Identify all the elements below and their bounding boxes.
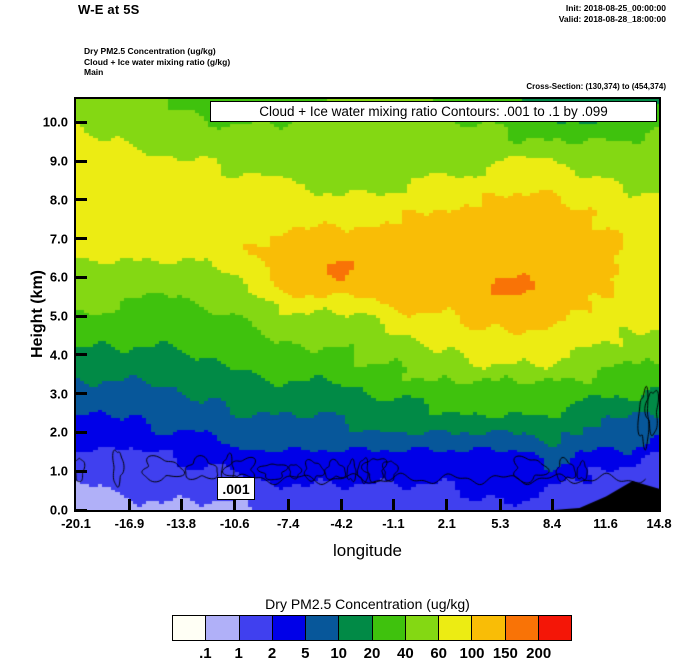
x-tick-mark [340,499,343,510]
y-axis-title: Height (km) [29,234,47,394]
y-tick-label: 1.0 [8,464,68,479]
colorbar-swatch-7 [406,616,439,640]
colorbar [172,615,572,641]
y-tick-mark [76,121,87,124]
x-tick-mark [180,499,183,510]
cross-section-plot: Cloud + Ice water mixing ratio Contours:… [74,97,661,512]
x-tick-mark [128,499,131,510]
contour-banner: Cloud + Ice water mixing ratio Contours:… [210,101,657,122]
y-tick-mark [76,198,87,201]
y-tick-mark [76,353,87,356]
colorbar-swatch-5 [339,616,372,640]
y-tick-mark [76,315,87,318]
contour-value-label: .001 [217,477,255,500]
y-tick-mark [76,160,87,163]
y-tick-mark [76,431,87,434]
y-tick-mark [76,392,87,395]
colorbar-swatch-2 [240,616,273,640]
colorbar-swatch-9 [472,616,505,640]
colorbar-swatch-1 [206,616,239,640]
y-tick-label: 2.0 [8,425,68,440]
colorbar-swatch-0 [173,616,206,640]
y-tick-mark [76,509,87,512]
page-title: W-E at 5S [78,2,140,17]
y-tick-mark [76,237,87,240]
colorbar-swatch-6 [373,616,406,640]
subtitle-line-2: Cloud + Ice water mixing ratio (g/kg) [84,57,230,68]
subtitle-line-3: Main [84,67,230,78]
cross-section-label: Cross-Section: (130,374) to (454,374) [526,82,666,91]
filled-contour-field [76,99,659,510]
x-tick-mark [604,499,607,510]
x-tick-mark [445,499,448,510]
y-tick-mark [76,470,87,473]
x-tick-mark [287,499,290,510]
x-tick-mark [233,499,236,510]
init-time-label: Init: 2018-08-25_00:00:00 [566,3,666,13]
x-tick-label: 14.8 [624,516,674,531]
y-tick-mark [76,276,87,279]
y-tick-label: 9.0 [8,154,68,169]
colorbar-swatch-8 [439,616,472,640]
colorbar-swatch-3 [273,616,306,640]
colorbar-title: Dry PM2.5 Concentration (ug/kg) [74,596,661,612]
x-axis-title: longitude [74,541,661,561]
x-tick-mark [499,499,502,510]
colorbar-swatch-4 [306,616,339,640]
variable-subtitle: Dry PM2.5 Concentration (ug/kg) Cloud + … [84,46,230,78]
y-tick-label: 10.0 [8,115,68,130]
x-tick-mark [392,499,395,510]
x-tick-mark [551,499,554,510]
y-tick-label: 8.0 [8,192,68,207]
valid-time-label: Valid: 2018-08-28_18:00:00 [559,14,666,24]
colorbar-tick-label: 200 [509,645,569,662]
subtitle-line-1: Dry PM2.5 Concentration (ug/kg) [84,46,230,57]
colorbar-swatch-10 [506,616,539,640]
colorbar-swatch-11 [539,616,571,640]
